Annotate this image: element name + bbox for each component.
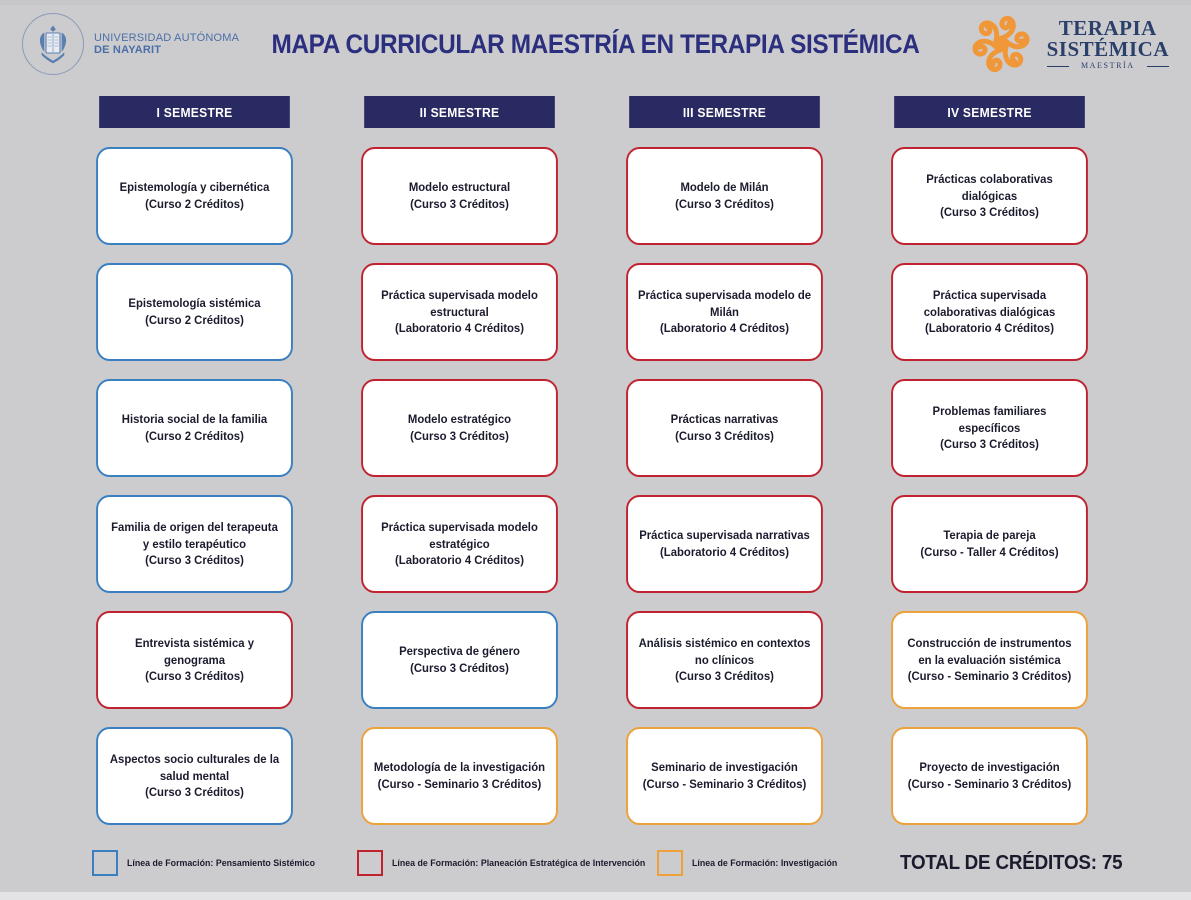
page-header: UNIVERSIDAD AUTÓNOMA DE NAYARIT MAPA CUR… [0,0,1191,88]
legend-swatch-blue [92,850,118,876]
course-name: Entrevista sistémica y genograma [107,635,283,669]
course-name: Aspectos socio culturales de la salud me… [107,751,283,785]
course-card[interactable]: Práctica supervisada narrativas(Laborato… [626,495,823,593]
course-credits: (Laboratorio 4 Créditos) [372,552,548,569]
course-credits: (Curso 3 Créditos) [107,552,283,569]
semester-column-2: II SEMESTREModelo estructural(Curso 3 Cr… [357,96,562,825]
course-name: Modelo estratégico [408,411,511,428]
course-credits: (Laboratorio 4 Créditos) [639,544,810,561]
university-name-line2: DE NAYARIT [94,44,239,56]
course-name: Práctica supervisada modelo de Milán [637,287,813,321]
uan-crest-icon [31,22,75,66]
legend-label: Línea de Formación: Investigación [692,858,837,868]
legend-swatch-orange [657,850,683,876]
curriculum-grid: I SEMESTREEpistemología y cibernética(Cu… [92,96,1102,825]
course-credits: (Curso 3 Créditos) [902,204,1078,221]
total-credits: TOTAL DE CRÉDITOS: 75 [900,852,1151,875]
course-credits: (Laboratorio 4 Créditos) [637,320,813,337]
course-credits: (Curso 3 Créditos) [409,196,510,213]
program-logo-word2: SISTÉMICA [1047,39,1169,60]
semester-column-4: IV SEMESTREPrácticas colaborativas dialó… [887,96,1092,825]
course-name: Prácticas narrativas [671,411,779,428]
legend-label: Línea de Formación: Planeación Estratégi… [392,858,645,868]
course-credits: (Curso 3 Créditos) [637,668,813,685]
course-name: Práctica supervisada narrativas [639,527,810,544]
course-card[interactable]: Modelo de Milán(Curso 3 Créditos) [626,147,823,245]
semester-header[interactable]: IV SEMESTRE [894,96,1085,128]
course-credits: (Curso 3 Créditos) [671,428,779,445]
course-card[interactable]: Prácticas colaborativas dialógicas(Curso… [891,147,1088,245]
course-name: Familia de origen del terapeuta y estilo… [107,519,283,553]
course-name: Perspectiva de género [399,643,520,660]
course-credits: (Curso 3 Créditos) [902,436,1078,453]
course-card[interactable]: Prácticas narrativas(Curso 3 Créditos) [626,379,823,477]
program-logo-word3: MAESTRÍA [1047,62,1169,70]
course-list: Modelo de Milán(Curso 3 Créditos)Práctic… [622,147,827,825]
course-credits: (Curso 3 Créditos) [675,196,774,213]
course-name: Práctica supervisada modelo estructural [372,287,548,321]
course-card[interactable]: Práctica supervisada modelo estructural(… [361,263,558,361]
program-logo-text: TERAPIA SISTÉMICA MAESTRÍA [1047,18,1169,70]
course-list: Modelo estructural(Curso 3 Créditos)Prác… [357,147,562,825]
course-credits: (Curso 3 Créditos) [408,428,511,445]
legend-item: Línea de Formación: Pensamiento Sistémic… [92,850,357,876]
course-card[interactable]: Práctica supervisada modelo de Milán(Lab… [626,263,823,361]
course-credits: (Curso 2 Créditos) [122,428,267,445]
legend-item: Línea de Formación: Planeación Estratégi… [357,850,657,876]
course-credits: (Curso - Seminario 3 Créditos) [902,668,1078,685]
course-name: Seminario de investigación [643,759,807,776]
course-credits: (Curso - Taller 4 Créditos) [920,544,1058,561]
systemic-swirl-icon [965,8,1037,80]
course-card[interactable]: Problemas familiares específicos(Curso 3… [891,379,1088,477]
course-card[interactable]: Modelo estratégico(Curso 3 Créditos) [361,379,558,477]
semester-column-1: I SEMESTREEpistemología y cibernética(Cu… [92,96,297,825]
course-credits: (Curso 3 Créditos) [107,784,283,801]
course-name: Epistemología y cibernética [120,179,270,196]
legend: Línea de Formación: Pensamiento Sistémic… [92,850,1131,876]
semester-header[interactable]: I SEMESTRE [99,96,290,128]
course-card[interactable]: Proyecto de investigación(Curso - Semina… [891,727,1088,825]
course-name: Práctica supervisada modelo estratégico [372,519,548,553]
course-card[interactable]: Perspectiva de género(Curso 3 Créditos) [361,611,558,709]
course-list: Epistemología y cibernética(Curso 2 Créd… [92,147,297,825]
course-card[interactable]: Construcción de instrumentos en la evalu… [891,611,1088,709]
course-name: Construcción de instrumentos en la evalu… [902,635,1078,669]
course-credits: (Curso 3 Créditos) [107,668,283,685]
course-name: Prácticas colaborativas dialógicas [902,171,1078,205]
semester-column-3: III SEMESTREModelo de Milán(Curso 3 Créd… [622,96,827,825]
legend-swatch-red [357,850,383,876]
course-name: Metodología de la investigación [374,759,545,776]
course-name: Análisis sistémico en contextos no clíni… [637,635,813,669]
course-credits: (Curso - Seminario 3 Créditos) [643,776,807,793]
legend-label: Línea de Formación: Pensamiento Sistémic… [127,858,315,868]
course-credits: (Laboratorio 4 Créditos) [902,320,1078,337]
university-seal-icon [22,13,84,75]
semester-header[interactable]: III SEMESTRE [629,96,820,128]
course-name: Modelo de Milán [675,179,774,196]
course-card[interactable]: Historia social de la familia(Curso 2 Cr… [96,379,293,477]
course-card[interactable]: Práctica supervisada modelo estratégico(… [361,495,558,593]
course-card[interactable]: Análisis sistémico en contextos no clíni… [626,611,823,709]
semester-header[interactable]: II SEMESTRE [364,96,555,128]
legend-item: Línea de Formación: Investigación [657,850,892,876]
course-credits: (Laboratorio 4 Créditos) [372,320,548,337]
course-credits: (Curso 2 Créditos) [120,196,270,213]
course-credits: (Curso - Seminario 3 Créditos) [908,776,1072,793]
course-name: Modelo estructural [409,179,510,196]
university-name-line1: UNIVERSIDAD AUTÓNOMA [94,32,239,44]
course-name: Práctica supervisada colaborativas dialó… [902,287,1078,321]
course-credits: (Curso 2 Créditos) [128,312,260,329]
course-list: Prácticas colaborativas dialógicas(Curso… [887,147,1092,825]
course-name: Terapia de pareja [920,527,1058,544]
course-card[interactable]: Seminario de investigación(Curso - Semin… [626,727,823,825]
course-name: Historia social de la familia [122,411,267,428]
course-credits: (Curso - Seminario 3 Créditos) [374,776,545,793]
course-card[interactable]: Terapia de pareja(Curso - Taller 4 Crédi… [891,495,1088,593]
course-name: Epistemología sistémica [128,295,260,312]
course-card[interactable]: Modelo estructural(Curso 3 Créditos) [361,147,558,245]
course-card[interactable]: Familia de origen del terapeuta y estilo… [96,495,293,593]
course-name: Problemas familiares específicos [902,403,1078,437]
course-credits: (Curso 3 Créditos) [399,660,520,677]
course-card[interactable]: Epistemología y cibernética(Curso 2 Créd… [96,147,293,245]
course-card[interactable]: Práctica supervisada colaborativas dialó… [891,263,1088,361]
course-card[interactable]: Metodología de la investigación(Curso - … [361,727,558,825]
course-card[interactable]: Epistemología sistémica(Curso 2 Créditos… [96,263,293,361]
program-logo-word1: TERAPIA [1047,18,1169,39]
program-logo: TERAPIA SISTÉMICA MAESTRÍA [965,8,1169,80]
university-name: UNIVERSIDAD AUTÓNOMA DE NAYARIT [94,32,239,57]
course-card[interactable]: Entrevista sistémica y genograma(Curso 3… [96,611,293,709]
bottom-edge-strip [0,892,1191,900]
course-name: Proyecto de investigación [908,759,1072,776]
university-logo: UNIVERSIDAD AUTÓNOMA DE NAYARIT [22,13,239,75]
course-card[interactable]: Aspectos socio culturales de la salud me… [96,727,293,825]
